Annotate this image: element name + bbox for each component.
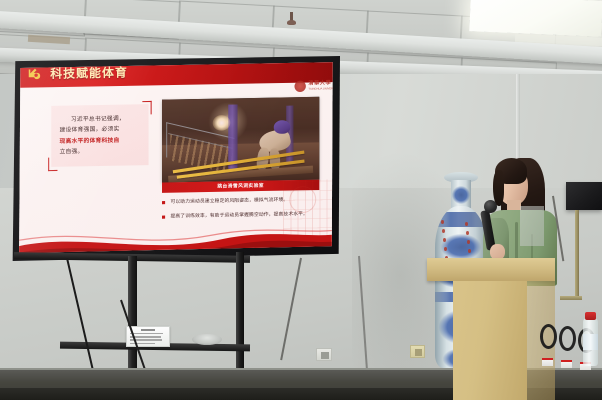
bullet-marker-icon bbox=[162, 201, 165, 204]
coil-label-tag bbox=[561, 360, 572, 368]
bullet-text: 可以助力运动员建立稳定的风阻姿态，模拟气流环境。 bbox=[170, 197, 288, 206]
cable-coil[interactable] bbox=[540, 324, 557, 349]
tsinghua-university-logo: 清華大學 TSINGHUA UNIVERSITY bbox=[295, 80, 334, 92]
bead bbox=[441, 220, 444, 224]
ceiling-light-panel bbox=[469, 0, 602, 37]
bead bbox=[444, 247, 447, 251]
tsinghua-seal-icon bbox=[295, 80, 306, 92]
bead bbox=[465, 222, 468, 226]
presentation-slide: 科技赋能体育 清華大學 TSINGHUA UNIVERSITY 习近平总书记强调… bbox=[14, 61, 334, 255]
ski-jump-wind-tunnel-photo bbox=[162, 97, 319, 183]
wall-outlet-secondary[interactable] bbox=[410, 345, 425, 358]
tv-stand-post-right bbox=[236, 252, 244, 384]
outlet-socket-icon bbox=[415, 349, 422, 356]
tv-stand-post-left bbox=[128, 256, 137, 384]
wall-mounted-speaker bbox=[566, 182, 602, 210]
fire-sprinkler-icon bbox=[287, 12, 296, 26]
microphone-head-icon bbox=[484, 200, 497, 213]
quote-line-4: 立自强。 bbox=[60, 146, 141, 158]
electrical-conduit-elbow bbox=[560, 296, 582, 300]
info-card-title-line bbox=[141, 329, 155, 331]
outlet-socket-icon bbox=[321, 352, 329, 359]
bead bbox=[468, 249, 471, 253]
bead bbox=[467, 240, 470, 244]
lectern-column bbox=[453, 281, 527, 400]
cpc-party-emblem-icon bbox=[26, 67, 42, 82]
wall-mounted-tv[interactable]: 科技赋能体育 清華大學 TSINGHUA UNIVERSITY 习近平总书记强调… bbox=[8, 56, 340, 261]
tv-screen[interactable]: 科技赋能体育 清華大學 TSINGHUA UNIVERSITY 习近平总书记强调… bbox=[14, 61, 334, 255]
bead bbox=[466, 231, 469, 235]
bead bbox=[442, 229, 445, 233]
electrical-conduit bbox=[575, 210, 579, 300]
water-bottle-label bbox=[583, 334, 598, 350]
lectern-top bbox=[427, 258, 555, 281]
wall-outlet[interactable] bbox=[316, 348, 332, 361]
water-bottle-cap bbox=[585, 312, 596, 320]
coil-label-tag bbox=[542, 358, 553, 366]
wooden-lectern bbox=[427, 258, 555, 400]
bead bbox=[443, 238, 446, 242]
quote-corner-top-right bbox=[142, 101, 151, 115]
room-scene: 科技赋能体育 清華大學 TSINGHUA UNIVERSITY 习近平总书记强调… bbox=[0, 0, 602, 400]
bullet-marker-icon bbox=[162, 215, 165, 218]
tsinghua-logo-subtext: TSINGHUA UNIVERSITY bbox=[308, 87, 334, 91]
wall-panel bbox=[520, 206, 544, 246]
cable-coil[interactable] bbox=[559, 326, 576, 351]
info-card-line bbox=[130, 333, 163, 334]
vase-pattern bbox=[452, 186, 470, 204]
quote-callout-box: 习近平总书记强调， 建设体育强国，必须实 现高水平的体育科技自 立自强。 bbox=[51, 104, 148, 167]
photo-caption-text: 跳台滑雪风洞实验室 bbox=[217, 183, 264, 190]
photo-color-overlay bbox=[162, 97, 319, 183]
quote-corner-bottom-left bbox=[48, 157, 57, 171]
shelf-tray bbox=[192, 334, 222, 345]
